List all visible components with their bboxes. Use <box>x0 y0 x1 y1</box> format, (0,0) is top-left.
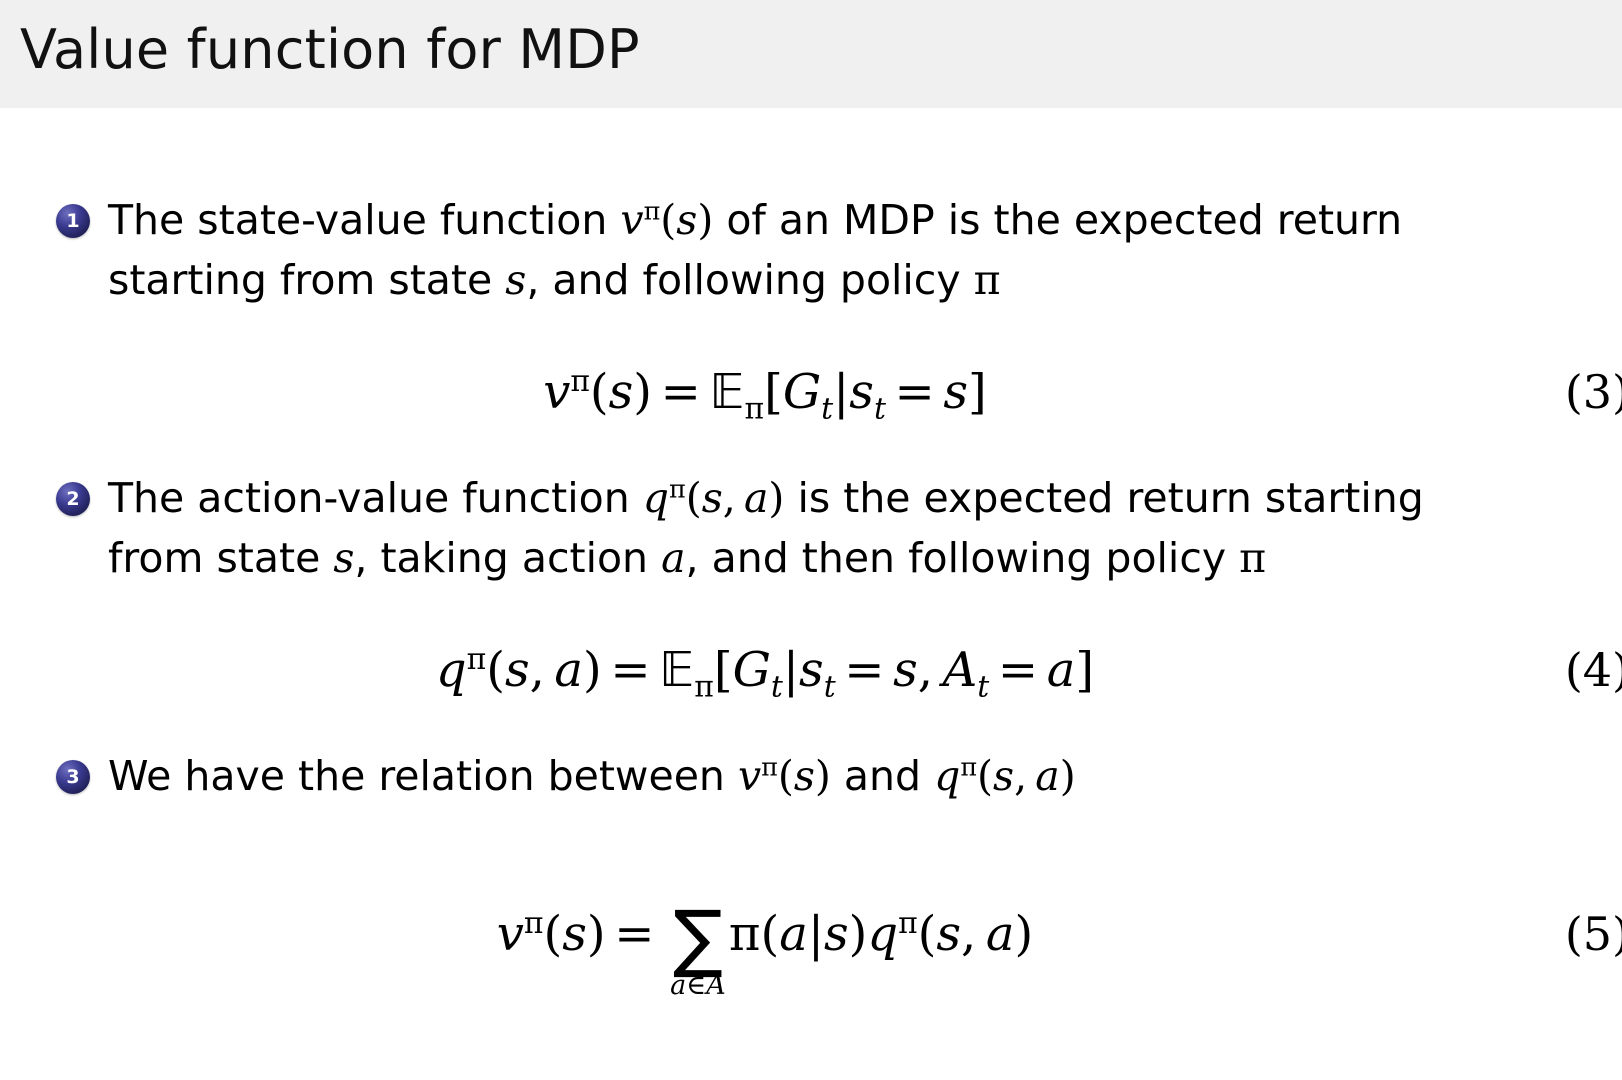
item1-math-v-pi-s: vπ(s) <box>620 196 713 244</box>
item2-math-q-pi-s-a: qπ(s, a) <box>643 474 785 522</box>
item3-math-q-pi-s-a: qπ(s, a) <box>934 752 1076 800</box>
item1-text-a: The state-value function <box>108 196 620 244</box>
item1-text-d: , and following policy <box>526 256 973 304</box>
item2-math-s: s <box>333 534 354 582</box>
list-item-text: The state-value function vπ(s) of an MDP… <box>108 190 1616 310</box>
equation-4-expression: qπ(s, a)=𝔼π[Gt|st=s, At=a] <box>436 642 1094 698</box>
slide-title-bar: Value function for MDP <box>0 0 1622 108</box>
slide-content: 1 The state-value function vπ(s) of an M… <box>0 108 1622 1080</box>
item1-math-pi: π <box>974 256 1001 304</box>
list-item-text: We have the relation between vπ(s) and q… <box>108 746 1616 806</box>
item2-math-pi: π <box>1239 534 1266 582</box>
list-item: 2 The action-value function qπ(s, a) is … <box>56 468 1616 588</box>
equation-3-body: vπ(s)=𝔼π[Gt|st=s] <box>0 356 1530 428</box>
item2-math-a: a <box>661 534 685 582</box>
list-item: 1 The state-value function vπ(s) of an M… <box>56 190 1616 310</box>
item2-text-a: The action-value function <box>108 474 643 522</box>
item3-text-a: We have the relation between <box>108 752 738 800</box>
page-title: Value function for MDP <box>20 16 640 84</box>
equation-5-expression: vπ(s)=∑a∈Aπ(a|s)qπ(s, a) <box>497 906 1033 962</box>
equation-5-body: vπ(s)=∑a∈Aπ(a|s)qπ(s, a) <box>0 898 1530 971</box>
bullet-number-3: 3 <box>56 760 90 794</box>
equation-4-body: qπ(s, a)=𝔼π[Gt|st=s, At=a] <box>0 634 1530 706</box>
item2-text-c: from state <box>108 534 333 582</box>
item1-math-s: s <box>505 256 526 304</box>
bullet-number-1: 1 <box>56 204 90 238</box>
summation-symbol: ∑a∈A <box>673 905 723 971</box>
item2-text-b: is the expected return starting <box>784 474 1423 522</box>
item2-text-e: , and then following policy <box>686 534 1240 582</box>
summation-limit: a∈A <box>670 971 726 1001</box>
item1-text-c: starting from state <box>108 256 505 304</box>
equation-3-number: (3) <box>1565 356 1622 428</box>
equation-4-number: (4) <box>1565 634 1622 706</box>
item1-text-b: of an MDP is the expected return <box>713 196 1402 244</box>
equation-3-expression: vπ(s)=𝔼π[Gt|st=s] <box>543 364 987 420</box>
item3-math-v-pi-s: vπ(s) <box>738 752 831 800</box>
item2-text-d: , taking action <box>354 534 661 582</box>
list-item-text: The action-value function qπ(s, a) is th… <box>108 468 1616 588</box>
item3-text-b: and <box>831 752 934 800</box>
bullet-number-2: 2 <box>56 482 90 516</box>
equation-5-number: (5) <box>1565 898 1622 970</box>
sigma-glyph: ∑ <box>673 905 723 971</box>
list-item: 3 We have the relation between vπ(s) and… <box>56 746 1616 806</box>
